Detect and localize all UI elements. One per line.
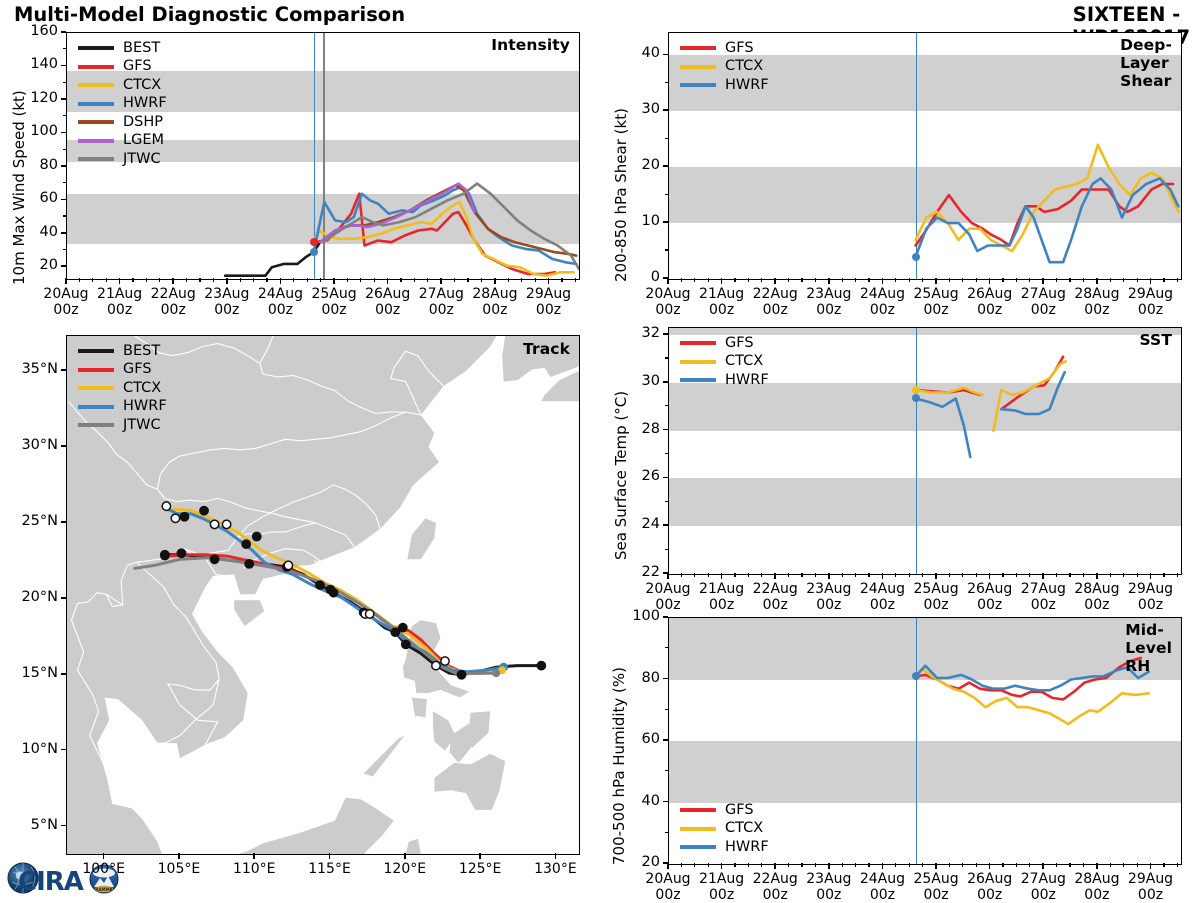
y-tick <box>663 165 668 167</box>
legend-swatch-ctcx <box>78 386 114 390</box>
rh-title: Mid-Level RH <box>1125 621 1172 675</box>
x-minor-tick <box>1177 278 1178 282</box>
x-minor-tick <box>868 278 869 282</box>
legend-swatch-hwrf <box>680 83 716 87</box>
legend-swatch-hwrf <box>680 378 716 382</box>
x-minor-tick <box>1163 278 1164 282</box>
x-tick <box>828 573 830 579</box>
legend-label-ctcx: CTCX <box>123 381 161 396</box>
y-tick-label: 160 <box>6 23 58 39</box>
x-minor-tick <box>1029 573 1030 577</box>
x-minor-tick <box>842 573 843 577</box>
legend-label-dshp: DSHP <box>123 115 163 130</box>
y-tick <box>663 429 668 431</box>
x-tick <box>667 863 669 869</box>
map-y-tick <box>61 369 66 371</box>
x-minor-tick <box>1123 863 1124 867</box>
y-minor-tick <box>63 215 66 216</box>
y-tick <box>61 165 66 167</box>
x-minor-tick <box>1029 278 1030 282</box>
legend-swatch-hwrf <box>78 102 114 106</box>
x-tick <box>494 278 496 284</box>
shear-title: Deep-Layer Shear <box>1120 36 1172 90</box>
track-marker-filled <box>210 555 219 564</box>
legend-label-jtwc: JTWC <box>123 418 161 433</box>
y-tick-label: 28 <box>608 421 660 437</box>
y-minor-tick <box>665 832 668 833</box>
x-minor-tick <box>708 278 709 282</box>
legend-item-lgem[interactable]: LGEM <box>78 133 167 149</box>
legend-label-jtwc: JTWC <box>123 152 161 167</box>
legend-item-hwrf[interactable]: HWRF <box>78 96 167 112</box>
sst-title: SST <box>1139 331 1172 349</box>
x-minor-tick <box>842 863 843 867</box>
x-minor-tick <box>855 278 856 282</box>
intensity-ylabel: 10m Max Wind Speed (kt) <box>10 90 28 285</box>
x-minor-tick <box>1137 863 1138 867</box>
y-minor-tick <box>665 194 668 195</box>
map-x-tick <box>253 853 255 859</box>
x-minor-tick <box>962 863 963 867</box>
legend-item-hwrf[interactable]: HWRF <box>680 839 769 855</box>
map-x-tick-label: 105°E <box>139 861 219 877</box>
x-minor-tick <box>855 863 856 867</box>
x-minor-tick <box>1083 863 1084 867</box>
x-minor-tick <box>922 573 923 577</box>
map-x-tick <box>479 853 481 859</box>
x-tick <box>280 278 282 284</box>
x-minor-tick <box>1163 863 1164 867</box>
legend-label-gfs: GFS <box>725 336 754 351</box>
x-minor-tick <box>1002 863 1003 867</box>
y-tick <box>663 221 668 223</box>
x-minor-tick <box>922 278 923 282</box>
map-y-tick <box>61 597 66 599</box>
x-tick <box>548 278 550 284</box>
x-minor-tick <box>868 573 869 577</box>
y-tick <box>663 477 668 479</box>
map-y-tick-label: 5°N <box>2 817 58 833</box>
svg-text:RAMMB: RAMMB <box>95 887 112 892</box>
legend-label-hwrf: HWRF <box>123 399 167 414</box>
legend-swatch-ctcx <box>680 827 716 831</box>
legend-item-ctcx[interactable]: CTCX <box>680 821 769 837</box>
x-minor-tick <box>748 863 749 867</box>
y-tick <box>61 265 66 267</box>
x-tick <box>774 278 776 284</box>
x-minor-tick <box>895 278 896 282</box>
legend-swatch-gfs <box>78 65 114 69</box>
x-minor-tick <box>1137 278 1138 282</box>
x-minor-tick <box>427 278 428 282</box>
y-tick <box>663 54 668 56</box>
x-tick <box>1150 863 1152 869</box>
x-tick <box>667 278 669 284</box>
map-x-tick <box>178 853 180 859</box>
x-minor-tick <box>708 863 709 867</box>
x-minor-tick <box>1056 278 1057 282</box>
legend-label-gfs: GFS <box>123 59 152 74</box>
x-minor-tick <box>949 573 950 577</box>
x-tick <box>226 278 228 284</box>
x-minor-tick <box>575 278 576 282</box>
legend-label-gfs: GFS <box>725 803 754 818</box>
x-minor-tick <box>1056 863 1057 867</box>
map-x-tick <box>103 853 105 859</box>
x-minor-tick <box>1177 573 1178 577</box>
y-minor-tick <box>665 453 668 454</box>
y-tick <box>61 98 66 100</box>
legend-item-gfs[interactable]: GFS <box>78 362 167 378</box>
legend-swatch-jtwc <box>78 157 114 161</box>
y-tick-label: 30 <box>608 101 660 117</box>
x-minor-tick <box>748 573 749 577</box>
x-minor-tick <box>508 278 509 282</box>
legend-label-gfs: GFS <box>725 41 754 56</box>
y-tick <box>61 31 66 33</box>
x-tick <box>119 278 121 284</box>
x-minor-tick <box>535 278 536 282</box>
y-tick <box>61 199 66 201</box>
x-minor-tick <box>976 863 977 867</box>
legend-item-best[interactable]: BEST <box>78 40 167 56</box>
x-minor-tick <box>681 573 682 577</box>
x-tick <box>1042 573 1044 579</box>
legend-item-hwrf[interactable]: HWRF <box>78 399 167 415</box>
x-tick-label: 29Aug00z <box>1111 286 1191 318</box>
x-minor-tick <box>1137 573 1138 577</box>
sst-legend: GFSCTCXHWRF <box>676 333 773 393</box>
y-tick-label: 40 <box>608 793 660 809</box>
x-minor-tick <box>801 573 802 577</box>
map-x-tick <box>555 853 557 859</box>
x-minor-tick <box>815 278 816 282</box>
y-minor-tick <box>665 647 668 648</box>
y-minor-tick <box>665 138 668 139</box>
x-minor-tick <box>1123 573 1124 577</box>
x-minor-tick <box>801 863 802 867</box>
x-minor-tick <box>213 278 214 282</box>
x-minor-tick <box>976 278 977 282</box>
y-minor-tick <box>665 709 668 710</box>
legend-swatch-ctcx <box>680 360 716 364</box>
x-minor-tick <box>1123 278 1124 282</box>
legend-swatch-lgem <box>78 139 114 143</box>
map-x-tick <box>404 853 406 859</box>
legend-label-lgem: LGEM <box>123 133 164 148</box>
x-tick <box>882 863 884 869</box>
x-minor-tick <box>761 863 762 867</box>
x-minor-tick <box>761 278 762 282</box>
x-minor-tick <box>561 278 562 282</box>
x-minor-tick <box>788 573 789 577</box>
y-tick-label: 100 <box>608 608 660 624</box>
x-tick <box>1150 573 1152 579</box>
legend-swatch-hwrf <box>78 405 114 409</box>
legend-item-gfs[interactable]: GFS <box>78 59 167 75</box>
shear-init-dot-hwrf <box>912 253 920 261</box>
legend-label-ctcx: CTCX <box>725 59 763 74</box>
x-minor-tick <box>868 863 869 867</box>
x-minor-tick <box>414 278 415 282</box>
legend-swatch-best <box>78 349 114 353</box>
legend-item-ctcx[interactable]: CTCX <box>680 59 769 75</box>
x-minor-tick <box>842 278 843 282</box>
y-tick <box>61 232 66 234</box>
legend-label-best: BEST <box>123 344 160 359</box>
y-minor-tick <box>63 115 66 116</box>
y-minor-tick <box>63 48 66 49</box>
x-minor-tick <box>694 573 695 577</box>
x-tick <box>440 278 442 284</box>
x-tick <box>935 863 937 869</box>
y-tick-label: 20 <box>608 854 660 870</box>
track-marker-filled <box>316 581 325 590</box>
series-line-ctcx <box>916 145 1179 251</box>
y-tick <box>663 739 668 741</box>
legend-item-ctcx[interactable]: CTCX <box>78 380 167 396</box>
y-tick-label: 140 <box>6 56 58 72</box>
x-tick <box>721 573 723 579</box>
legend-label-gfs: GFS <box>123 362 152 377</box>
map-x-tick-label: 115°E <box>290 861 370 877</box>
y-tick-label: 60 <box>608 731 660 747</box>
y-tick <box>663 678 668 680</box>
x-minor-tick <box>1016 573 1017 577</box>
x-minor-tick <box>79 278 80 282</box>
y-minor-tick <box>665 249 668 250</box>
map-x-tick <box>329 853 331 859</box>
series-line-gfs <box>314 194 555 274</box>
x-tick <box>1042 278 1044 284</box>
y-tick <box>663 524 668 526</box>
y-tick-label: 30 <box>608 373 660 389</box>
x-minor-tick <box>976 573 977 577</box>
y-minor-tick <box>665 405 668 406</box>
x-minor-tick <box>895 863 896 867</box>
x-minor-tick <box>1083 573 1084 577</box>
legend-item-dshp[interactable]: DSHP <box>78 114 167 130</box>
y-minor-tick <box>63 182 66 183</box>
series-line-best <box>225 242 320 276</box>
x-minor-tick <box>400 278 401 282</box>
x-minor-tick <box>307 278 308 282</box>
map-x-tick-label: 120°E <box>365 861 445 877</box>
x-minor-tick <box>909 573 910 577</box>
intensity-title: Intensity <box>491 36 570 54</box>
x-minor-tick <box>734 278 735 282</box>
x-minor-tick <box>855 573 856 577</box>
y-minor-tick <box>665 770 668 771</box>
page-title: Multi-Model Diagnostic Comparison <box>14 3 405 26</box>
y-tick-label: 120 <box>6 90 58 106</box>
x-tick <box>989 863 991 869</box>
y-tick <box>663 616 668 618</box>
intensity-init-dot-gfs <box>310 238 318 246</box>
y-minor-tick <box>665 501 668 502</box>
track-marker-filled <box>457 670 466 679</box>
x-tick-label: 29Aug00z <box>509 286 589 318</box>
legend-item-gfs[interactable]: GFS <box>680 40 769 56</box>
x-tick <box>989 573 991 579</box>
legend-item-gfs[interactable]: GFS <box>680 802 769 818</box>
legend-swatch-best <box>78 46 114 50</box>
x-tick <box>721 863 723 869</box>
track-title: Track <box>523 340 570 358</box>
x-tick <box>1150 278 1152 284</box>
x-minor-tick <box>481 278 482 282</box>
x-minor-tick <box>748 278 749 282</box>
y-tick <box>61 132 66 134</box>
legend-item-jtwc[interactable]: JTWC <box>78 417 167 433</box>
legend-item-hwrf[interactable]: HWRF <box>680 77 769 93</box>
x-minor-tick <box>949 863 950 867</box>
y-tick-label: 24 <box>608 516 660 532</box>
x-minor-tick <box>1002 573 1003 577</box>
legend-item-hwrf[interactable]: HWRF <box>680 372 769 388</box>
x-minor-tick <box>909 863 910 867</box>
track-marker-filled <box>180 512 189 521</box>
y-tick <box>61 65 66 67</box>
track-marker-open <box>365 610 373 618</box>
legend-label-ctcx: CTCX <box>725 821 763 836</box>
legend-item-best[interactable]: BEST <box>78 343 167 359</box>
legend-item-gfs[interactable]: GFS <box>680 335 769 351</box>
track-marker-filled <box>537 661 546 670</box>
track-marker-open <box>222 520 230 528</box>
legend-swatch-ctcx <box>78 83 114 87</box>
track-marker-open <box>210 520 218 528</box>
y-minor-tick <box>665 357 668 358</box>
x-minor-tick <box>374 278 375 282</box>
y-tick-label: 40 <box>608 45 660 61</box>
x-minor-tick <box>1029 863 1030 867</box>
x-minor-tick <box>1016 863 1017 867</box>
x-minor-tick <box>734 573 735 577</box>
x-tick <box>989 278 991 284</box>
x-minor-tick <box>1110 278 1111 282</box>
series-line-hwrf <box>916 178 1179 262</box>
y-tick-label: 80 <box>6 157 58 173</box>
y-tick <box>663 109 668 111</box>
x-tick <box>935 573 937 579</box>
shear-ylabel: 200-850 hPa Shear (kt) <box>612 108 630 282</box>
map-y-tick-label: 20°N <box>2 589 58 605</box>
legend-swatch-hwrf <box>680 845 716 849</box>
legend-label-best: BEST <box>123 41 160 56</box>
map-y-tick <box>61 521 66 523</box>
x-minor-tick <box>1177 863 1178 867</box>
x-minor-tick <box>734 863 735 867</box>
x-minor-tick <box>708 573 709 577</box>
y-tick <box>663 801 668 803</box>
x-tick <box>65 278 67 284</box>
map-y-tick-label: 25°N <box>2 513 58 529</box>
legend-swatch-gfs <box>78 368 114 372</box>
legend-item-ctcx[interactable]: CTCX <box>680 354 769 370</box>
track-marker-filled <box>252 532 261 541</box>
map-y-tick-label: 10°N <box>2 741 58 757</box>
y-tick <box>663 381 668 383</box>
x-tick <box>1096 863 1098 869</box>
x-minor-tick <box>1069 863 1070 867</box>
track-marker-filled <box>242 540 251 549</box>
legend-label-hwrf: HWRF <box>725 840 769 855</box>
track-marker-filled <box>401 640 410 649</box>
y-minor-tick <box>665 82 668 83</box>
x-minor-tick <box>347 278 348 282</box>
x-minor-tick <box>1069 573 1070 577</box>
x-tick <box>935 278 937 284</box>
map-y-tick <box>61 673 66 675</box>
map-x-tick-label: 130°E <box>515 861 595 877</box>
y-tick-label: 20 <box>608 157 660 173</box>
track-marker-open <box>432 661 440 669</box>
x-tick <box>333 278 335 284</box>
track-marker-filled <box>160 551 169 560</box>
x-minor-tick <box>815 573 816 577</box>
legend-label-hwrf: HWRF <box>725 78 769 93</box>
track-marker-open <box>171 514 179 522</box>
x-minor-tick <box>788 278 789 282</box>
x-minor-tick <box>106 278 107 282</box>
x-minor-tick <box>1083 278 1084 282</box>
series-line-hwrf <box>916 399 971 458</box>
x-tick <box>774 573 776 579</box>
x-minor-tick <box>253 278 254 282</box>
track-marker-filled <box>245 559 254 568</box>
x-minor-tick <box>801 278 802 282</box>
track-marker-open <box>441 657 449 665</box>
track-marker-filled <box>326 585 335 594</box>
x-minor-tick <box>467 278 468 282</box>
x-minor-tick <box>962 278 963 282</box>
x-minor-tick <box>521 278 522 282</box>
track-marker-filled <box>200 506 209 515</box>
legend-swatch-gfs <box>680 46 716 50</box>
track-marker-filled <box>177 549 186 558</box>
legend-item-jtwc[interactable]: JTWC <box>78 151 167 167</box>
map-y-tick <box>61 749 66 751</box>
y-tick-label: 60 <box>6 190 58 206</box>
y-tick-label: 32 <box>608 325 660 341</box>
x-tick <box>387 278 389 284</box>
legend-swatch-dshp <box>78 120 114 124</box>
x-minor-tick <box>1163 573 1164 577</box>
legend-swatch-ctcx <box>680 65 716 69</box>
intensity-init-dot-hwrf <box>310 248 318 256</box>
rh-ylabel: 700-500 hPa Humidity (%) <box>610 667 628 865</box>
x-tick <box>882 573 884 579</box>
y-tick-label: 26 <box>608 468 660 484</box>
map-y-tick-label: 15°N <box>2 665 58 681</box>
track-legend: BESTGFSCTCXHWRFJTWC <box>74 341 171 438</box>
legend-item-ctcx[interactable]: CTCX <box>78 77 167 93</box>
y-minor-tick <box>63 249 66 250</box>
x-minor-tick <box>909 278 910 282</box>
x-minor-tick <box>199 278 200 282</box>
x-minor-tick <box>454 278 455 282</box>
y-tick-label: 80 <box>608 670 660 686</box>
x-minor-tick <box>1016 278 1017 282</box>
x-minor-tick <box>895 573 896 577</box>
x-minor-tick <box>1110 863 1111 867</box>
y-tick-label: 40 <box>6 224 58 240</box>
y-tick-label: 20 <box>6 257 58 273</box>
x-minor-tick <box>922 863 923 867</box>
x-tick <box>1096 573 1098 579</box>
y-tick-label: 22 <box>608 564 660 580</box>
